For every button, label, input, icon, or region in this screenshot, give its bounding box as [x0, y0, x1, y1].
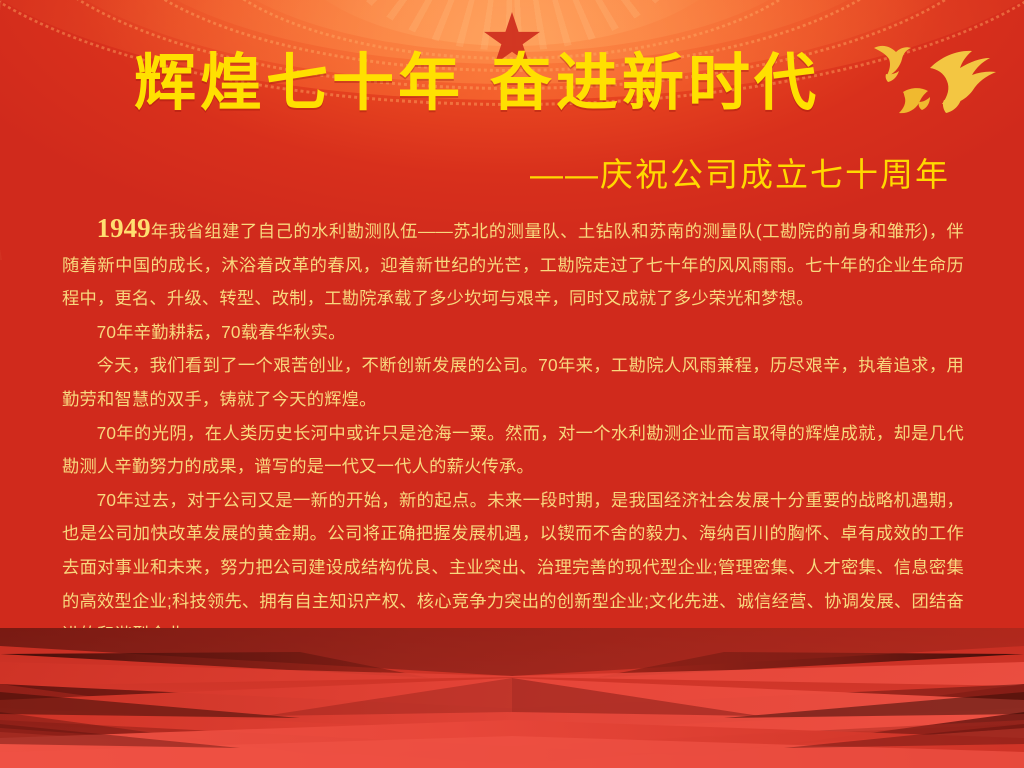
- bottom-ribbon-decoration: [0, 628, 1024, 768]
- paragraph-1-text: 年我省组建了自己的水利勘测队伍——苏北的测量队、土钻队和苏南的测量队(工勘院的前…: [62, 221, 964, 308]
- origami-ribbon-svg: [0, 628, 1024, 768]
- paragraph-1: 1949年我省组建了自己的水利勘测队伍——苏北的测量队、土钻队和苏南的测量队(工…: [62, 212, 964, 316]
- paragraph-2: 70年辛勤耕耘，70载春华秋实。: [62, 316, 964, 350]
- title-block: 辉煌七十年奋进新时代: [0, 52, 1024, 117]
- page-title: 辉煌七十年奋进新时代: [0, 52, 1024, 117]
- page-subtitle: ——庆祝公司成立七十周年: [0, 148, 1024, 196]
- paragraph-4: 70年的光阴，在人类历史长河中或许只是沧海一粟。然而，对一个水利勘测企业而言取得…: [62, 417, 964, 484]
- celebration-poster: 辉煌七十年奋进新时代 ——庆祝公司成立七十周年 1949年我省组建了自己的水利勘…: [0, 0, 1024, 768]
- title-part-2: 奋进新时代: [490, 50, 820, 118]
- paragraph-3: 今天，我们看到了一个艰苦创业，不断创新发展的公司。70年来，工勘院人风雨兼程，历…: [62, 349, 964, 416]
- body-copy: 1949年我省组建了自己的水利勘测队伍——苏北的测量队、土钻队和苏南的测量队(工…: [62, 212, 964, 652]
- lead-year: 1949: [97, 213, 151, 243]
- title-part-1: 辉煌七十年: [134, 50, 464, 118]
- paragraph-5: 70年过去，对于公司又是一新的开始，新的起点。未来一段时期，是我国经济社会发展十…: [62, 484, 964, 652]
